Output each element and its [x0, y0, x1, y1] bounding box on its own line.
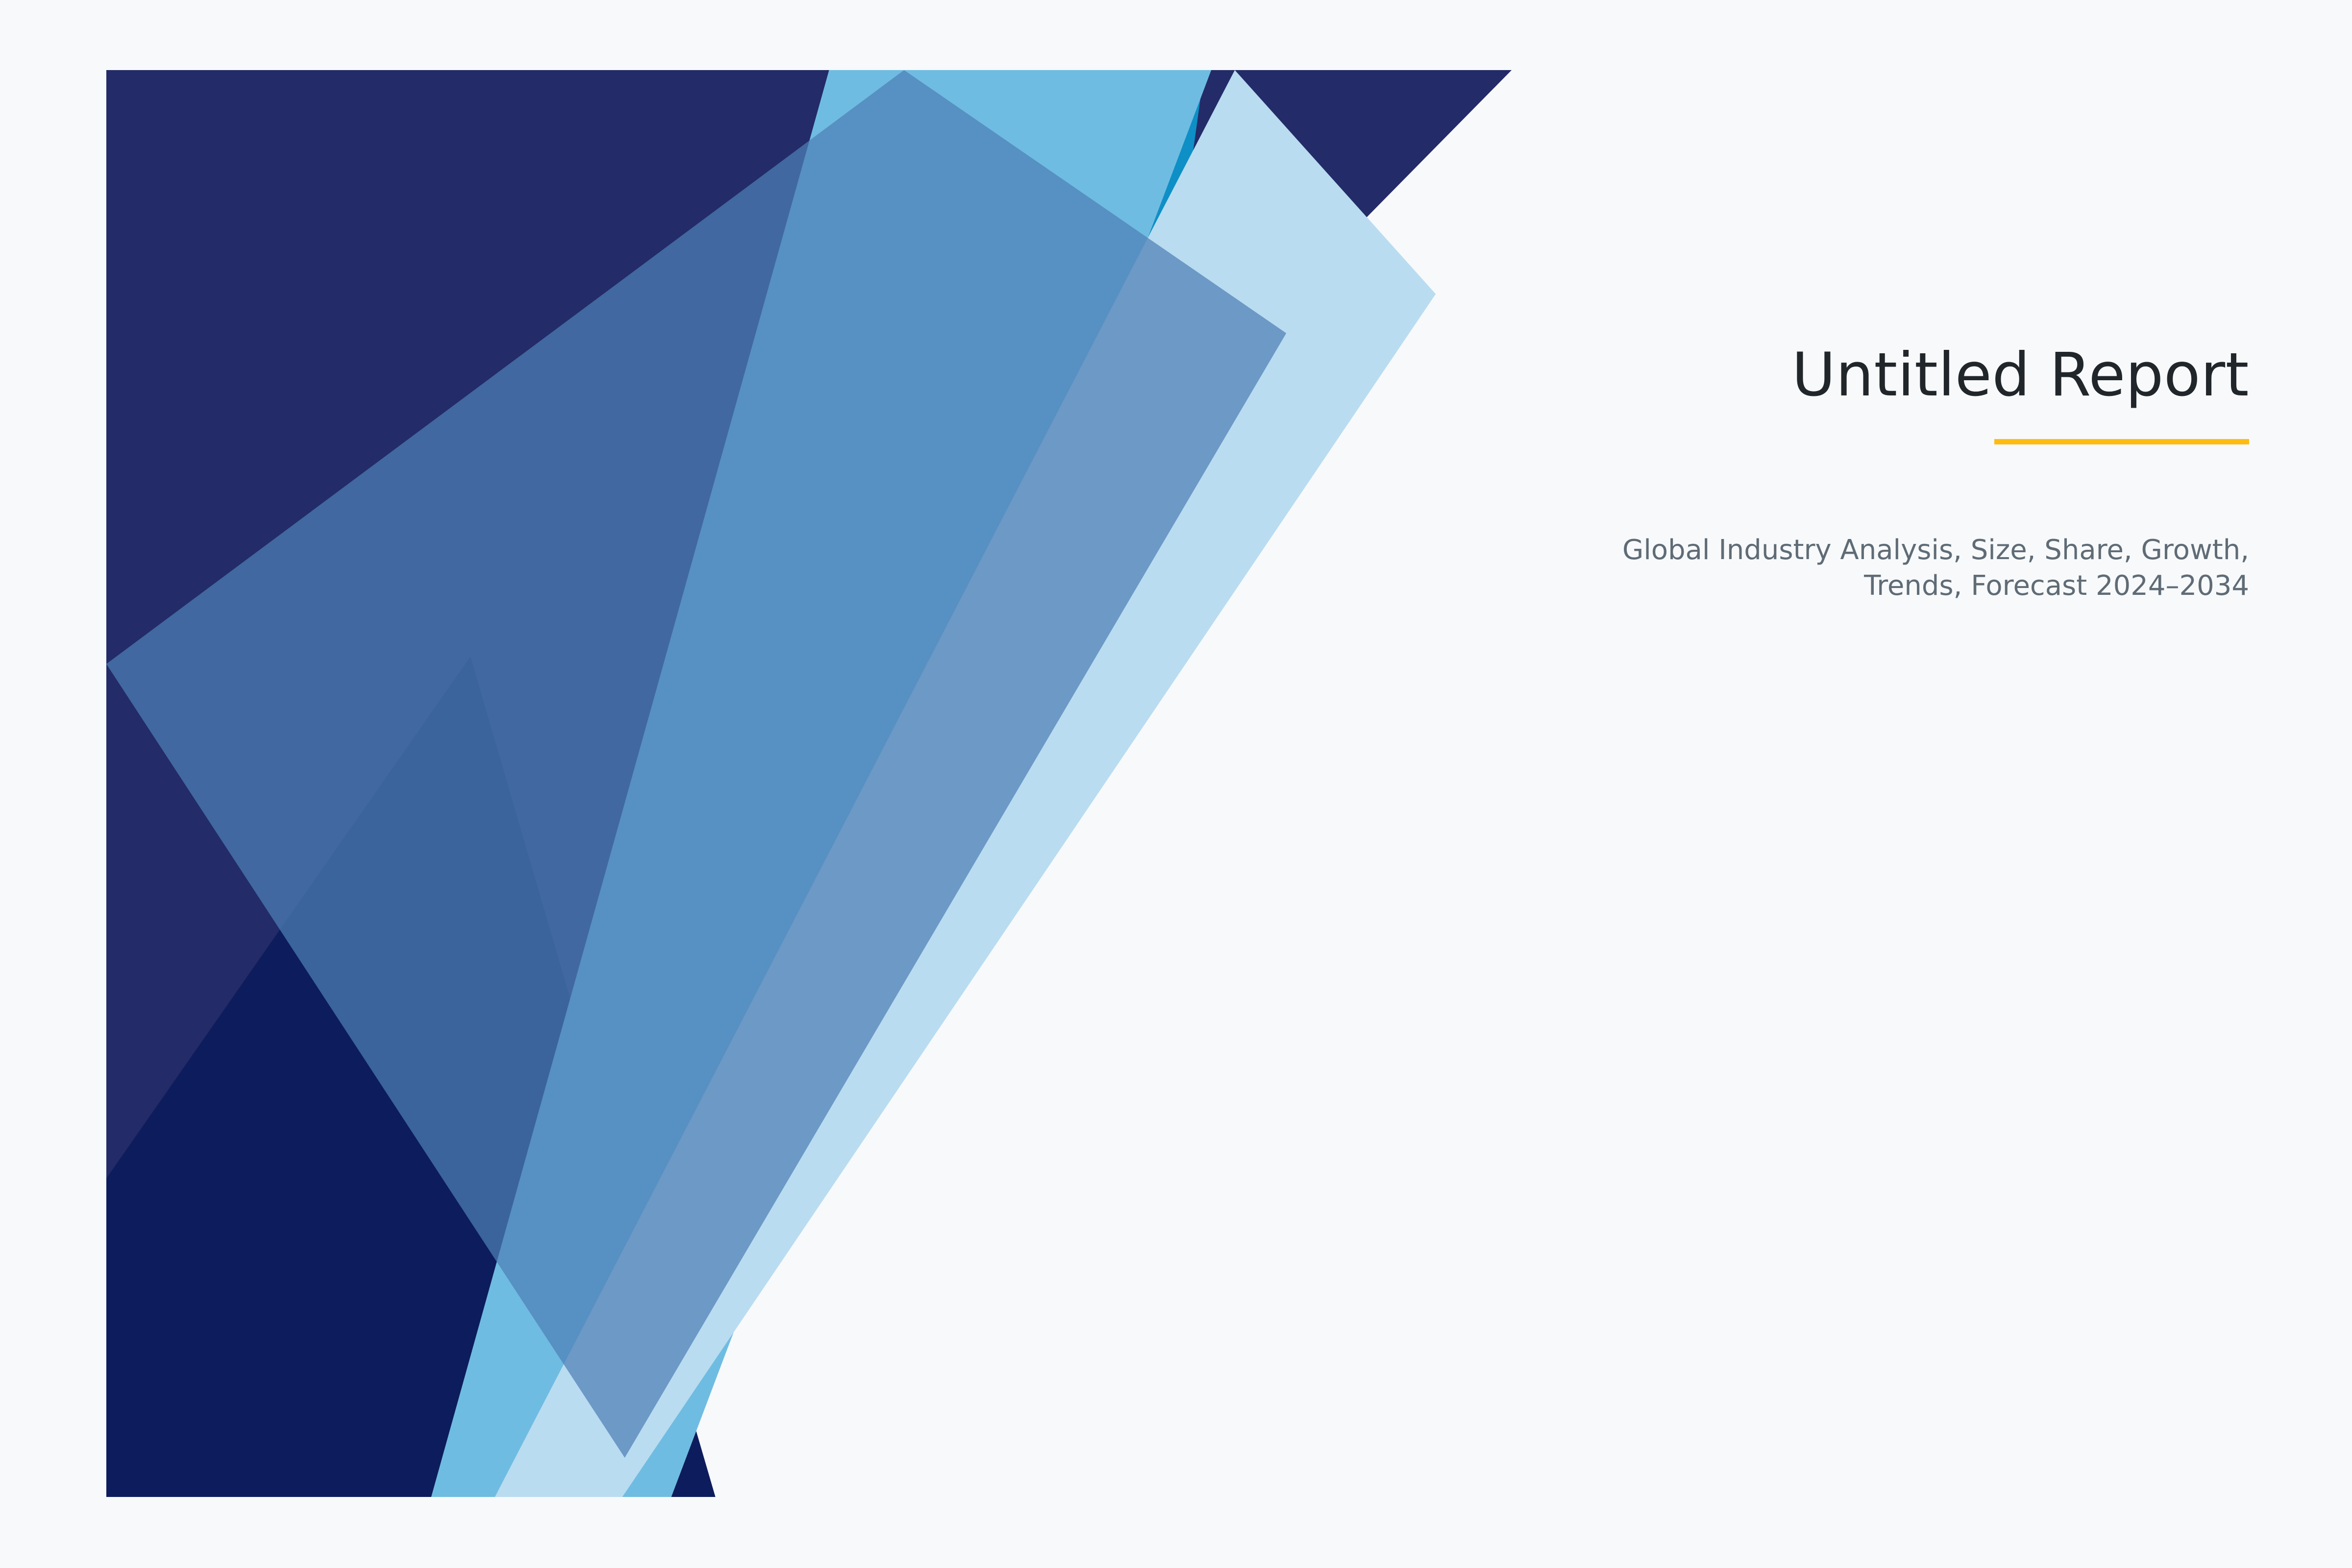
- accent-rule-divider: [1994, 439, 2249, 444]
- title-block: Untitled Report Global Industry Analysis…: [1617, 343, 2249, 604]
- artwork-top-mask: [0, 0, 1568, 70]
- artwork-left-mask: [0, 0, 106, 1568]
- artwork-bottom-mask: [0, 1497, 1568, 1568]
- report-subtitle: Global Industry Analysis, Size, Share, G…: [1617, 533, 2249, 604]
- report-title: Untitled Report: [1617, 343, 2249, 408]
- cover-artwork: [0, 0, 1568, 1568]
- report-cover-page: Untitled Report Global Industry Analysis…: [0, 0, 2352, 1568]
